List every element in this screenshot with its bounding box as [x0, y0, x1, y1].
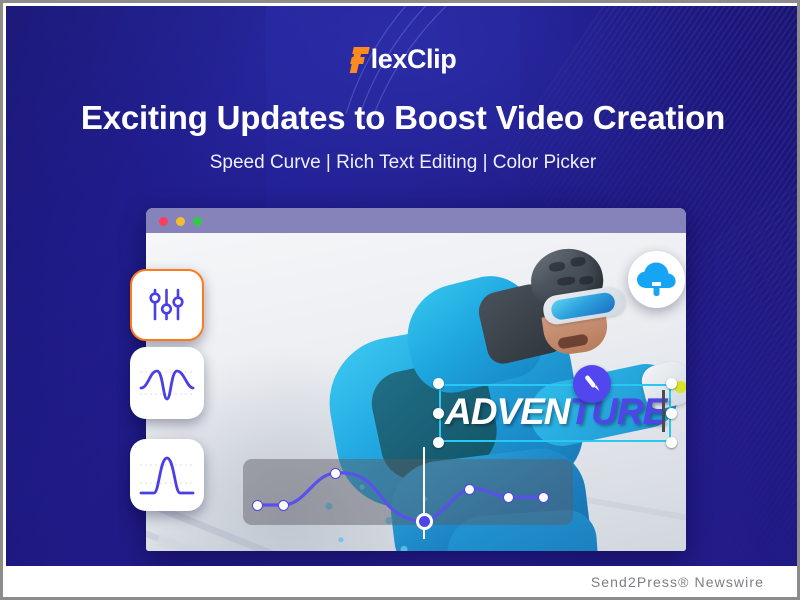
- adventure-text: ADVENTURE: [445, 390, 666, 434]
- tool-card-adjust[interactable]: [130, 269, 204, 341]
- resize-handle-top-right[interactable]: [666, 378, 677, 389]
- keyframe-point[interactable]: [503, 492, 514, 503]
- keyframe-point[interactable]: [330, 468, 341, 479]
- editor-stage: ADVENTURE: [146, 233, 686, 551]
- resize-handle-mid-left[interactable]: [433, 408, 444, 419]
- window-minimize-button[interactable]: [176, 217, 185, 226]
- flexclip-f-mark-icon: [350, 47, 369, 73]
- resize-handle-bottom-right[interactable]: [666, 437, 677, 448]
- screenshot-frame: lexClip Exciting Updates to Boost Video …: [0, 0, 800, 600]
- keyframe-point[interactable]: [252, 500, 263, 511]
- color-picker-badge[interactable]: [573, 365, 611, 403]
- flexclip-logo: lexClip: [6, 46, 800, 73]
- sliders-icon: [132, 271, 201, 338]
- app-window-mockup: ADVENTURE: [146, 208, 686, 551]
- curve-dip-icon: [130, 347, 204, 419]
- resize-handle-mid-right[interactable]: [666, 408, 677, 419]
- hero-subheadline: Speed Curve | Rich Text Editing | Color …: [6, 152, 800, 174]
- cloud-upload-icon: [628, 251, 685, 308]
- text-overlay-selection[interactable]: ADVENTURE: [439, 384, 671, 442]
- resize-handle-bottom-left[interactable]: [433, 437, 444, 448]
- tool-card-curve-dip[interactable]: [130, 347, 204, 419]
- speed-curve-panel[interactable]: [243, 459, 573, 525]
- window-maximize-button[interactable]: [193, 217, 202, 226]
- window-close-button[interactable]: [159, 217, 168, 226]
- eyedropper-icon: [573, 365, 611, 403]
- speed-curve-graph: [243, 459, 573, 525]
- cloud-upload-button[interactable]: [628, 251, 685, 308]
- keyframe-point[interactable]: [464, 484, 475, 495]
- keyframe-point[interactable]: [278, 500, 289, 511]
- flexclip-logo-text: lexClip: [371, 46, 457, 73]
- goggle-lens: [550, 291, 616, 321]
- hero-banner: lexClip Exciting Updates to Boost Video …: [6, 6, 800, 566]
- curve-peak-icon: [130, 439, 204, 511]
- hero-headline: Exciting Updates to Boost Video Creation: [6, 99, 800, 137]
- window-titlebar: [146, 208, 686, 233]
- newswire-credit: Send2Press® Newswire: [591, 574, 764, 590]
- text-cursor-caret: [662, 390, 665, 432]
- keyframe-point[interactable]: [538, 492, 549, 503]
- footer-bar: Send2Press® Newswire: [6, 566, 800, 600]
- adventure-text-part-one: ADVEN: [445, 391, 570, 432]
- tool-card-curve-peak[interactable]: [130, 439, 204, 511]
- resize-handle-top-left[interactable]: [433, 378, 444, 389]
- keyframe-point-active[interactable]: [416, 513, 433, 530]
